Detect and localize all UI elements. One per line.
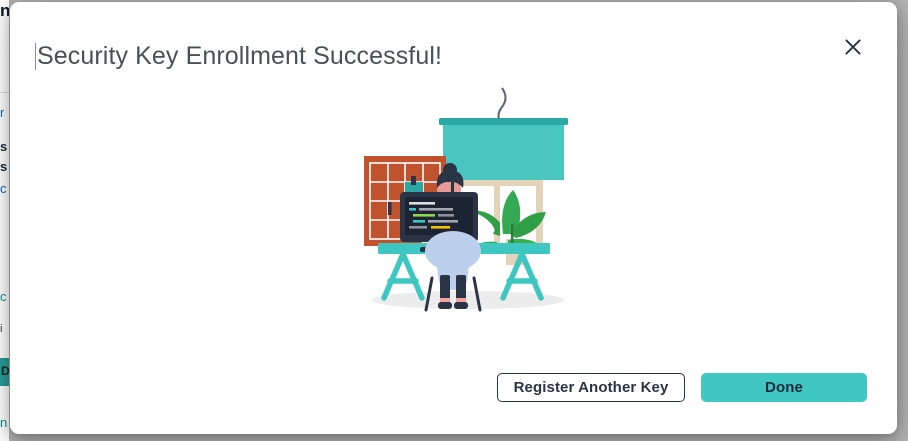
- shoe: [454, 302, 468, 309]
- floor-shadow-ellipse: [372, 291, 564, 309]
- background-text-fragment: s: [0, 140, 7, 153]
- window-blind: [439, 118, 568, 180]
- dialog-title-text: Security Key Enrollment Successful!: [37, 42, 442, 70]
- dialog-title: Security Key Enrollment Successful!: [35, 42, 442, 71]
- close-icon[interactable]: [836, 30, 870, 64]
- security-key-enrollment-dialog: Security Key Enrollment Successful!: [10, 2, 897, 434]
- background-text-fragment: r: [0, 106, 4, 119]
- background-text-fragment: n: [0, 416, 7, 429]
- background-text-fragment: i: [0, 324, 2, 335]
- illustration-svg: [350, 84, 580, 316]
- background-page-sliver: n r s s c c i D n: [0, 0, 9, 441]
- page-root: n r s s c c i D n Security Key Enrollmen…: [0, 0, 908, 441]
- background-divider: [0, 92, 9, 93]
- register-another-key-button[interactable]: Register Another Key: [497, 373, 685, 402]
- done-button[interactable]: Done: [701, 373, 867, 402]
- background-text-fragment: s: [0, 160, 7, 173]
- text-cursor: [35, 43, 36, 70]
- dialog-footer: Register Another Key Done: [497, 373, 867, 402]
- person-at-desk-illustration: [350, 84, 580, 316]
- close-icon-glyph: [843, 37, 863, 57]
- background-text-fragment: c: [0, 182, 7, 195]
- chair: [425, 231, 481, 290]
- shoe: [438, 302, 452, 309]
- background-band-label: D: [1, 364, 9, 378]
- background-highlight-band: D: [0, 358, 9, 386]
- person-hair-bun: [443, 163, 457, 177]
- background-text-fragment: c: [0, 290, 7, 303]
- background-text-fragment: n: [0, 2, 9, 19]
